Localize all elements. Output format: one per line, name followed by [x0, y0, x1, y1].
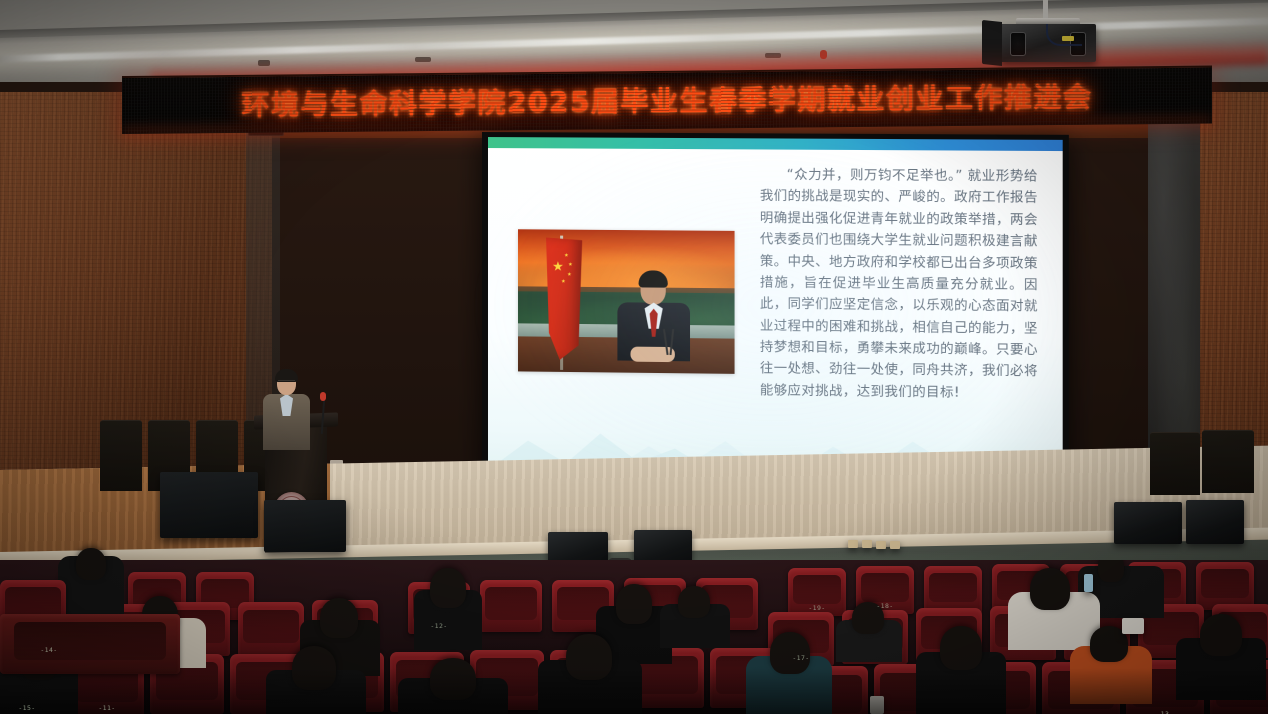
attendee-head [1030, 568, 1070, 610]
front-left-attendee-head [76, 548, 106, 580]
lectern-microphone-head-icon [320, 392, 326, 401]
flag-star-4: ★ [561, 280, 566, 285]
slide-top-gradient-bar [488, 137, 1063, 151]
front-left-seat-2[interactable] [0, 614, 180, 674]
attendee-head [430, 658, 476, 700]
water-cup [870, 696, 884, 714]
water-bottle [1084, 574, 1093, 592]
seat-number: -17- [768, 654, 834, 662]
stage-monitor-speaker-3 [1114, 502, 1182, 544]
attendee-head [292, 646, 336, 690]
seat-number: -13- [1126, 710, 1204, 714]
seat[interactable] [924, 566, 982, 614]
presentation-slide: ★ ★ ★ ★ ★ “众力并，则万钧不足举也。” 就业形势给我们的挑战是现实的、… [488, 137, 1063, 478]
seat-number: -19- [788, 604, 846, 612]
seat[interactable] [1196, 562, 1254, 610]
stage-chair-6 [1202, 430, 1254, 493]
attendee-head [566, 634, 612, 680]
audience-seating-area: -19- -18- -12- -17- -14- [0, 560, 1268, 714]
attendee-head [616, 584, 652, 624]
flag-star-1: ★ [564, 254, 569, 259]
attendee-head [770, 632, 810, 674]
seat[interactable]: -19- [788, 568, 846, 616]
projector-lens-left [1010, 32, 1026, 56]
slide-embedded-photo: ★ ★ ★ ★ ★ [518, 229, 735, 374]
attendee-head [320, 598, 358, 638]
projection-screen: ★ ★ ★ ★ ★ “众力并，则万钧不足举也。” 就业形势给我们的挑战是现实的、… [482, 132, 1069, 488]
stage-item-small-3 [876, 541, 886, 549]
conference-hall-photo: 环境与生命科学学院2025届毕业生春季学期就业创业工作推进会 [0, 0, 1268, 714]
projector-lens-hood [982, 20, 1002, 66]
tissue-pack [1122, 618, 1144, 634]
projector-cable [1046, 24, 1082, 46]
flag-star-3: ★ [567, 273, 572, 278]
attendee-head [678, 586, 710, 618]
attendee-head [940, 626, 982, 670]
stage-subwoofer-left [160, 472, 258, 538]
stage-item-small [848, 540, 858, 548]
stage-item-small-2 [862, 540, 872, 548]
seat[interactable]: -18- [856, 566, 914, 614]
flag-star-large: ★ [552, 260, 564, 273]
seat-number: -12- [408, 622, 470, 630]
seat[interactable] [238, 602, 304, 656]
stage-chair-5 [1150, 432, 1200, 495]
projector-label-sticker [1062, 36, 1074, 41]
attendee-head [430, 568, 466, 608]
seat[interactable] [480, 580, 542, 632]
presenter-glasses-icon [278, 380, 295, 385]
seat-number: -11- [70, 704, 144, 712]
stage-chair-1 [100, 420, 142, 491]
seat-number: -15- [0, 704, 64, 712]
seat-number: -14- [16, 646, 82, 654]
stage-monitor-speaker-4 [1186, 500, 1244, 544]
seat-number: -18- [856, 602, 914, 610]
attendee-head [1098, 560, 1124, 582]
slide-body-text: “众力并，则万钧不足举也。” 就业形势给我们的挑战是现实的、严峻的。政府工作报告… [760, 165, 1038, 405]
flag-star-2: ★ [568, 263, 573, 268]
stage-item-small-4 [890, 541, 900, 549]
projection-screen-surface: ★ ★ ★ ★ ★ “众力并，则万钧不足举也。” 就业形势给我们的挑战是现实的、… [488, 137, 1063, 478]
attendee-head [1200, 614, 1242, 656]
stage-subwoofer-podium [264, 500, 346, 552]
